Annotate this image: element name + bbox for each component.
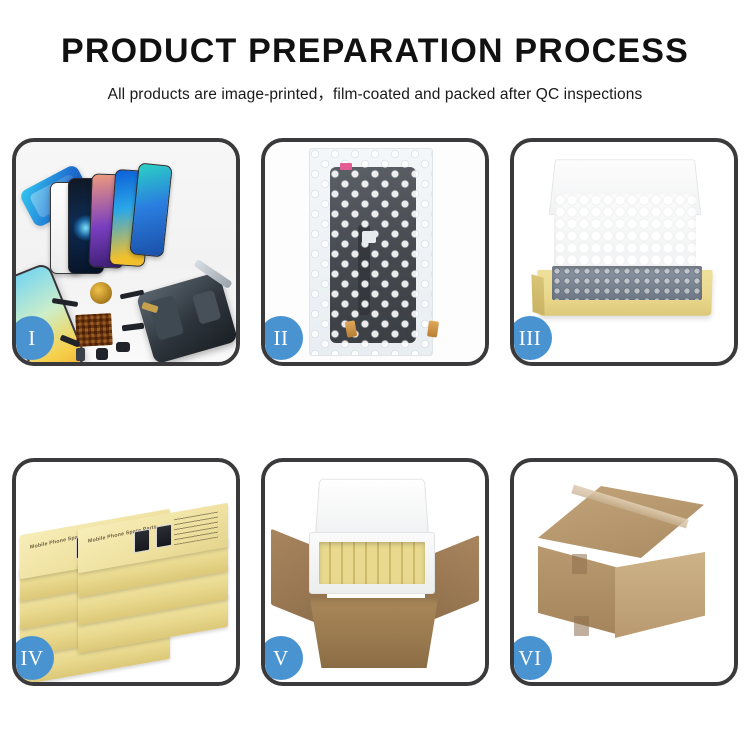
chip-grid-icon <box>75 313 113 347</box>
step-badge-6: VI <box>514 636 552 680</box>
screen-photo-icon <box>156 524 172 549</box>
flex-cable-icon <box>122 323 145 332</box>
bubble-wrap-bag <box>309 148 433 356</box>
page-subtitle: All products are image-printed，film-coat… <box>0 82 750 104</box>
process-step-4: Mobile Phone Spare Parts Mobile Phone Sp… <box>12 458 240 686</box>
step-badge-2: II <box>265 316 303 360</box>
screen-photo-icon <box>134 529 150 554</box>
step-badge-3: III <box>514 316 552 360</box>
page-title: PRODUCT PREPARATION PROCESS <box>0 34 750 70</box>
white-connector-icon <box>362 231 376 243</box>
header: PRODUCT PREPARATION PROCESS All products… <box>0 0 750 104</box>
process-step-3: III <box>510 138 738 366</box>
process-step-6: VI <box>510 458 738 686</box>
box-stack: Mobile Phone Spare Parts Mobile Phone Sp… <box>20 488 236 668</box>
carton-right-face <box>615 552 705 638</box>
carton-tab-icon <box>572 554 587 574</box>
small-component-icon <box>76 348 85 361</box>
bubble-packed-screens-icon <box>552 266 702 300</box>
step-4-image: Mobile Phone Spare Parts Mobile Phone Sp… <box>16 462 236 682</box>
process-step-2: II <box>261 138 489 366</box>
step-5-image: V <box>265 462 485 682</box>
process-step-grid: I II <box>12 138 738 686</box>
process-step-5: V <box>261 458 489 686</box>
foam-lid-icon <box>315 479 430 540</box>
process-step-1: I <box>12 138 240 366</box>
spec-lines-icon <box>174 512 218 546</box>
carton-tab-icon <box>574 616 589 636</box>
product-preparation-infographic: PRODUCT PREPARATION PROCESS All products… <box>0 0 750 750</box>
gold-connector-icon <box>427 320 439 337</box>
small-component-icon <box>96 348 108 360</box>
step-badge-5: V <box>265 636 303 680</box>
phone-motherboard-icon <box>136 272 236 362</box>
inner-yellow-boxes-icon <box>319 542 425 584</box>
pink-label-icon <box>340 163 352 170</box>
speaker-coil-icon <box>90 282 112 304</box>
bubble-texture-icon <box>310 149 432 355</box>
carton-body-icon <box>301 598 447 668</box>
step-1-image: I <box>16 142 236 362</box>
small-component-icon <box>116 342 130 352</box>
step-2-image: II <box>265 142 485 362</box>
step-3-image: III <box>514 142 734 362</box>
step-6-image: VI <box>514 462 734 682</box>
